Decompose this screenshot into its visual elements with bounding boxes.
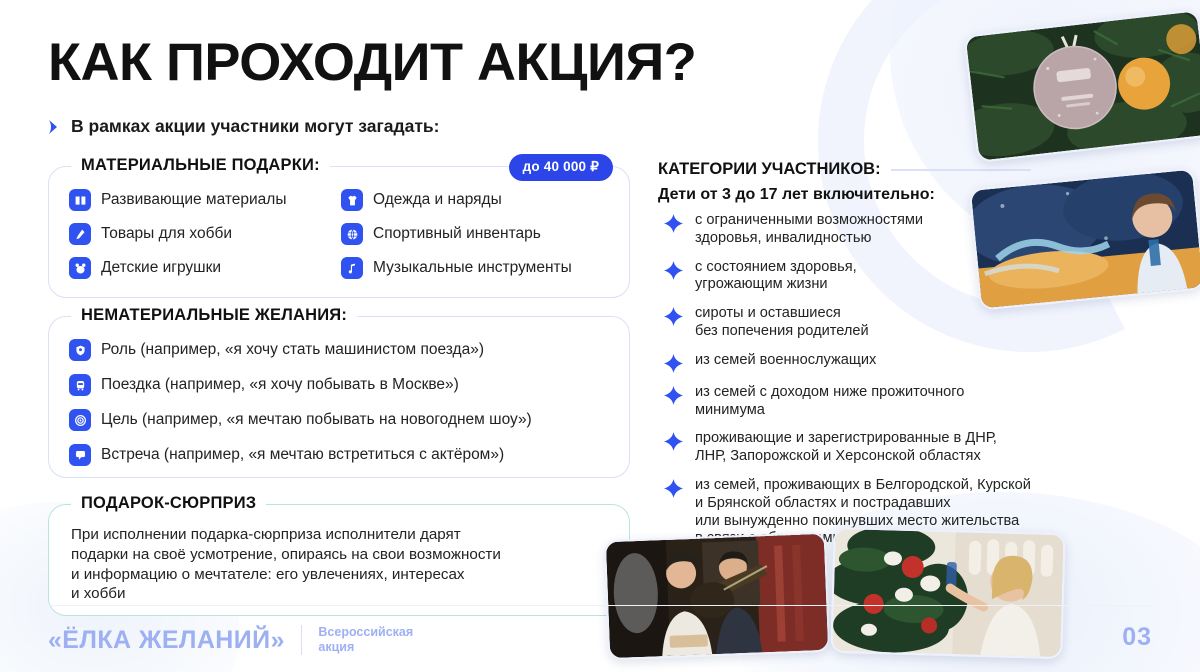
card-material-title: МАТЕРИАЛЬНЫЕ ПОДАРКИ: xyxy=(71,156,330,175)
brand-subtitle: Всероссийская акция xyxy=(318,625,413,656)
page-title: КАК ПРОХОДИТ АКЦИЯ? xyxy=(48,36,696,89)
card-material-gifts: МАТЕРИАЛЬНЫЕ ПОДАРКИ: до 40 000 ₽ Развив… xyxy=(48,166,630,298)
card-wishes-title: НЕМАТЕРИАЛЬНЫЕ ЖЕЛАНИЯ: xyxy=(71,306,357,325)
list-item: из семей с доходом ниже прожиточного мин… xyxy=(664,384,1134,420)
card-surprise-gift: ПОДАРОК-СЮРПРИЗ При исполнении подарка-с… xyxy=(48,504,630,616)
chat-bubble-icon xyxy=(69,444,91,466)
photo-tree-image xyxy=(832,529,1063,657)
list-item-label: Одежда и наряды xyxy=(373,191,502,209)
list-item: Встреча (например, «я мечтаю встретиться… xyxy=(69,444,615,466)
list-item-label: Спортивный инвентарь xyxy=(373,225,541,243)
list-item-label: Поездка (например, «я хочу побывать в Мо… xyxy=(101,376,459,394)
train-icon xyxy=(69,374,91,396)
list-item-label: проживающие и зарегистрированные в ДНР, … xyxy=(695,430,997,466)
list-item: из семей военнослужащих xyxy=(664,352,1134,373)
list-item-label: сироты и оставшиеся без попечения родите… xyxy=(695,305,869,341)
list-item-label: Развивающие материалы xyxy=(101,191,286,209)
price-limit-badge: до 40 000 ₽ xyxy=(509,154,613,181)
target-icon xyxy=(69,409,91,431)
list-item-label: из семей военнослужащих xyxy=(695,352,876,370)
tshirt-icon xyxy=(341,189,363,211)
photo-guitar-image xyxy=(606,534,828,658)
sparkle-icon xyxy=(664,307,683,326)
list-item: Поездка (например, «я хочу побывать в Мо… xyxy=(69,374,615,396)
page-number: 03 xyxy=(1122,623,1152,652)
nonmaterial-wishes-list: Роль (например, «я хочу стать машинистом… xyxy=(69,339,615,466)
list-item-label: Детские игрушки xyxy=(101,259,221,277)
arrow-bullet-icon xyxy=(48,119,62,135)
list-item-label: Цель (например, «я мечтаю побывать на но… xyxy=(101,411,532,429)
sparkle-icon xyxy=(664,354,683,373)
card-nonmaterial-wishes: НЕМАТЕРИАЛЬНЫЕ ЖЕЛАНИЯ: Роль (например, … xyxy=(48,316,630,478)
list-item: Музыкальные инструменты xyxy=(341,257,617,279)
list-item: Детские игрушки xyxy=(69,257,341,279)
photo-ornament xyxy=(964,9,1200,163)
surprise-gift-body: При исполнении подарка-сюрприза исполнит… xyxy=(71,525,609,604)
sparkle-icon xyxy=(664,386,683,405)
music-note-icon xyxy=(341,257,363,279)
sparkle-icon xyxy=(664,261,683,280)
list-item-label: Встреча (например, «я мечтаю встретиться… xyxy=(101,446,504,464)
book-icon xyxy=(69,189,91,211)
list-item: Цель (например, «я мечтаю побывать на но… xyxy=(69,409,615,431)
list-item: Спортивный инвентарь xyxy=(341,223,617,245)
photo-child-image xyxy=(971,170,1200,309)
list-item-label: с ограниченными возможностями здоровья, … xyxy=(695,212,923,248)
brand-name: «ЁЛКА ЖЕЛАНИЙ» xyxy=(48,626,285,655)
list-item: Роль (например, «я хочу стать машинистом… xyxy=(69,339,615,361)
list-item: сироты и оставшиеся без попечения родите… xyxy=(664,305,1134,341)
sparkle-icon xyxy=(664,479,683,498)
list-item-label: Роль (например, «я хочу стать машинистом… xyxy=(101,341,484,359)
list-item: Одежда и наряды xyxy=(341,189,617,211)
subtitle-text: В рамках акции участники могут загадать: xyxy=(71,116,440,137)
helmet-icon xyxy=(69,339,91,361)
photo-tree xyxy=(830,527,1065,659)
material-gifts-grid: Развивающие материалы Одежда и наряды То… xyxy=(69,189,617,279)
list-item-label: из семей с доходом ниже прожиточного мин… xyxy=(695,384,964,420)
sparkle-icon xyxy=(664,214,683,233)
list-item: Развивающие материалы xyxy=(69,189,341,211)
participants-title: КАТЕГОРИИ УЧАСТНИКОВ: xyxy=(658,160,881,179)
list-item-label: Товары для хобби xyxy=(101,225,232,243)
list-item-label: с состоянием здоровья, угрожающим жизни xyxy=(695,259,857,295)
list-item-label: Музыкальные инструменты xyxy=(373,259,572,277)
photo-ornament-image xyxy=(966,11,1200,160)
participants-subtitle: Дети от 3 до 17 лет включительно: xyxy=(658,186,935,204)
footer-brand: «ЁЛКА ЖЕЛАНИЙ» Всероссийская акция xyxy=(48,625,413,656)
paint-brush-icon xyxy=(69,223,91,245)
subtitle-row: В рамках акции участники могут загадать: xyxy=(48,116,440,137)
photo-guitar xyxy=(604,532,830,660)
brand-divider xyxy=(301,625,303,655)
card-surprise-title: ПОДАРОК-СЮРПРИЗ xyxy=(71,494,266,513)
photo-child xyxy=(969,167,1200,310)
list-item: Товары для хобби xyxy=(69,223,341,245)
sparkle-icon xyxy=(664,432,683,451)
footer-divider xyxy=(48,605,1152,606)
ball-icon xyxy=(341,223,363,245)
list-item: проживающие и зарегистрированные в ДНР, … xyxy=(664,430,1134,466)
teddy-bear-icon xyxy=(69,257,91,279)
slide-root: КАК ПРОХОДИТ АКЦИЯ? В рамках акции участ… xyxy=(0,0,1200,672)
